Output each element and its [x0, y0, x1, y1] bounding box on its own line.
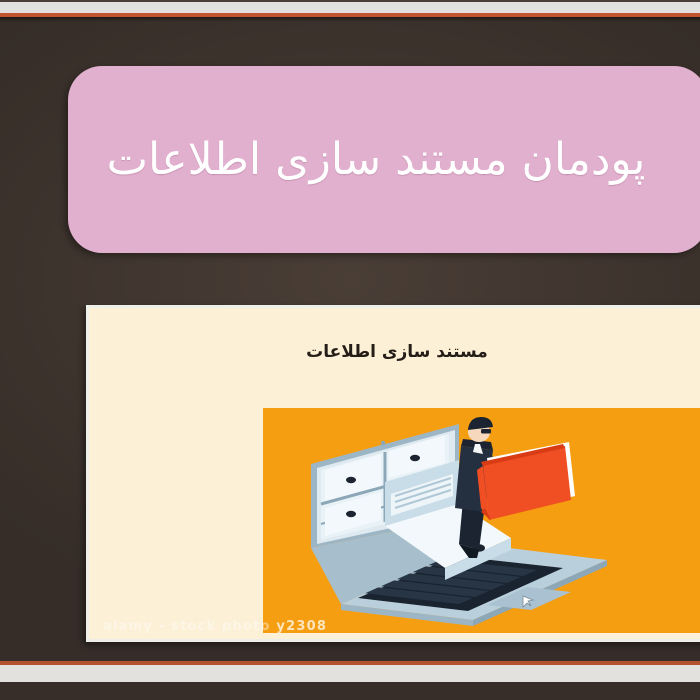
drawer-handle-2 [410, 455, 420, 461]
drawer-handle-3 [346, 511, 356, 517]
bottom-accent-rule [0, 661, 700, 665]
bottom-decorative-band [0, 665, 700, 682]
slide-title-plate: پودمان مستند سازی اطلاعات [68, 66, 700, 253]
top-edge-line [0, 0, 700, 2]
figure-glasses [481, 429, 491, 434]
content-heading: مستند سازی اطلاعات [89, 342, 700, 362]
page-title: پودمان مستند سازی اطلاعات [97, 128, 680, 192]
stock-image-watermark: alamy - stock photo y2308 [103, 619, 327, 634]
bottom-edge-band [0, 682, 700, 700]
presentation-slide: پودمان مستند سازی اطلاعات مستند سازی اطل… [0, 0, 700, 700]
watermark-id-text: y2308 [276, 619, 327, 634]
webcam-dot [381, 441, 385, 445]
slide-content-plate: مستند سازی اطلاعات [86, 305, 700, 642]
watermark-faint-text: alamy - stock photo [103, 619, 271, 634]
isometric-laptop-filing-cabinet-illustration [263, 408, 700, 633]
top-band-shadow [0, 17, 700, 22]
illustration-svg [263, 408, 700, 633]
drawer-handle-1 [346, 477, 356, 483]
